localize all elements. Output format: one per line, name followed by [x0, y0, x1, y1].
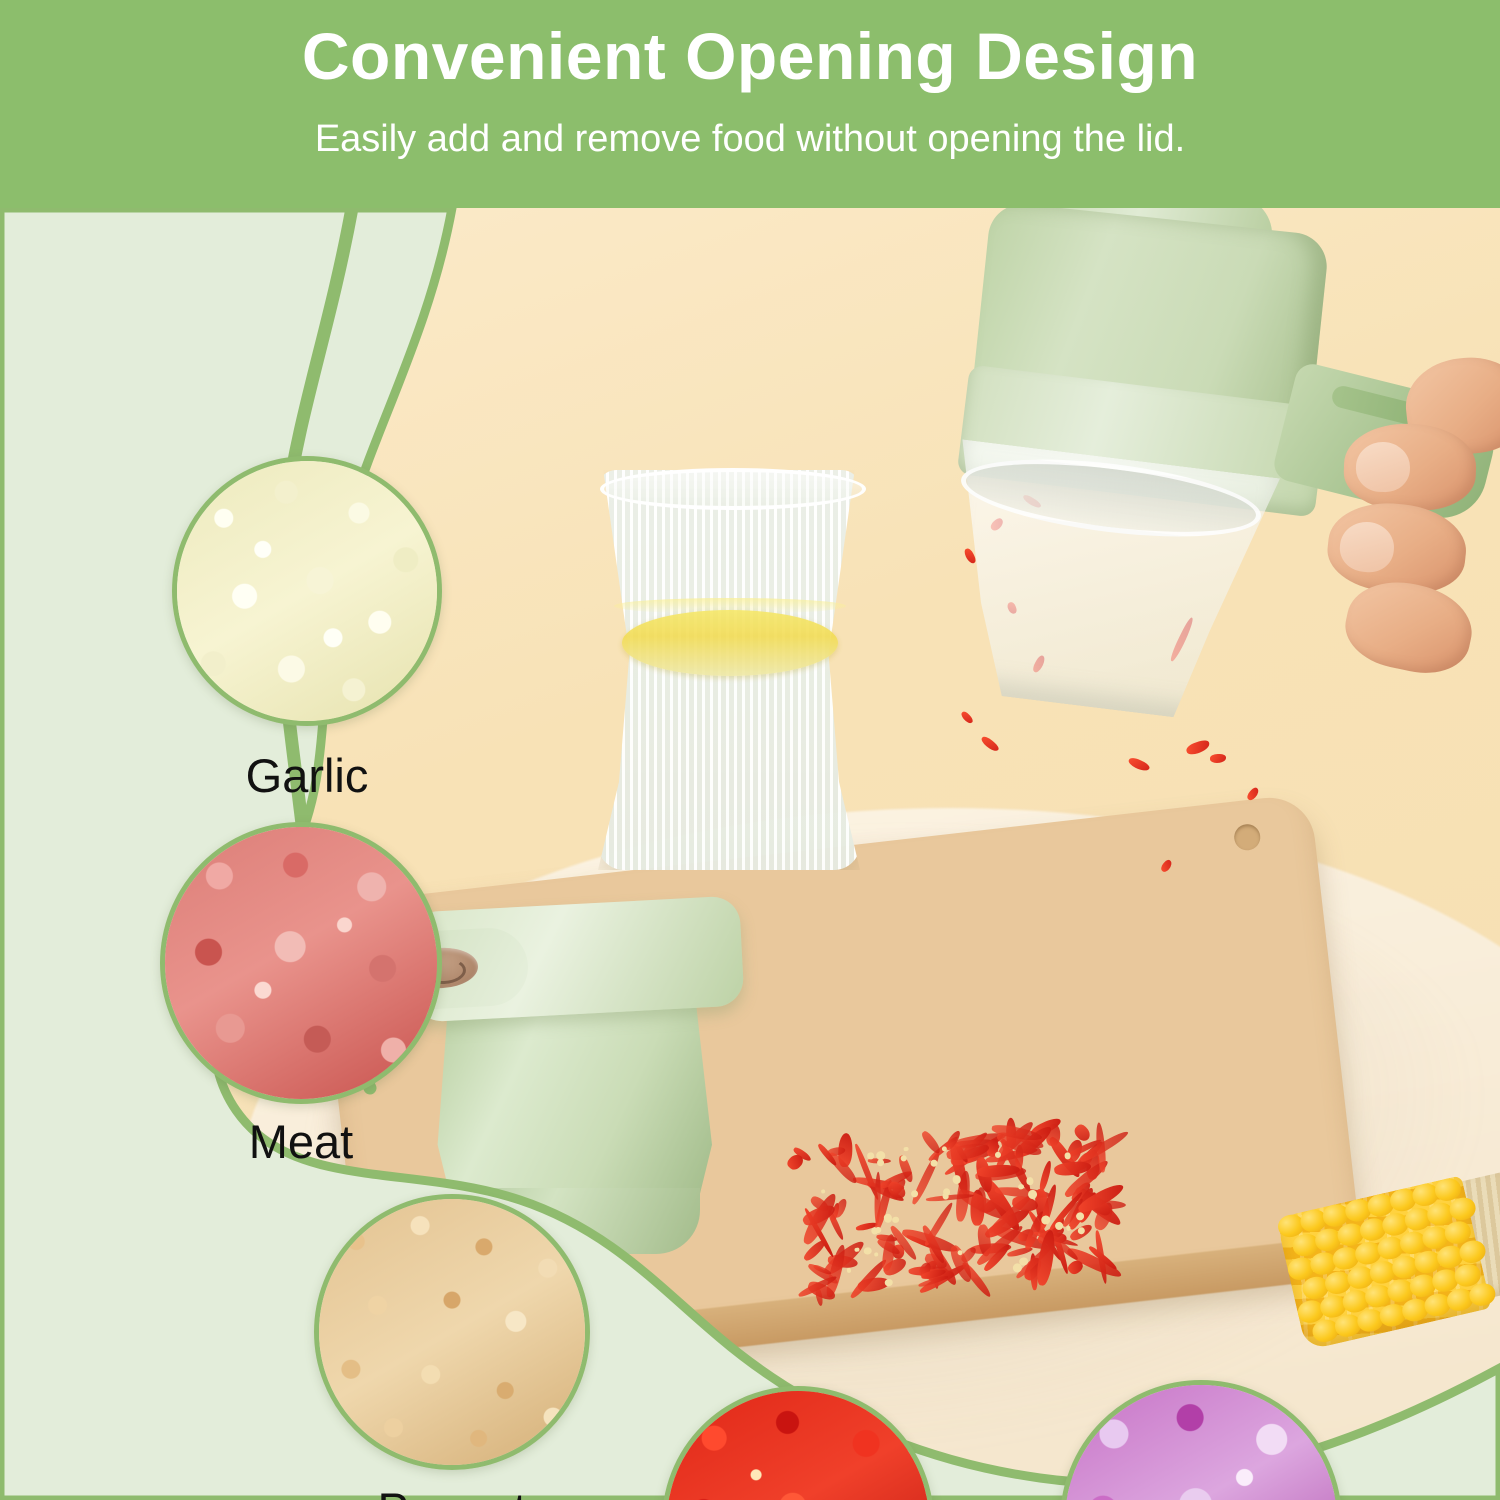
finger — [1338, 572, 1479, 682]
callout-meat: Meat — [160, 822, 442, 1174]
human-hand — [1310, 328, 1500, 728]
callout-onion: Onion — [1060, 1380, 1342, 1500]
callout-label-peanut: Peanut — [378, 1482, 527, 1500]
chili-shred — [1038, 1160, 1053, 1192]
chili-seed — [1066, 1226, 1071, 1231]
callout-image-garlic — [172, 456, 442, 726]
onion-texture — [1065, 1385, 1337, 1500]
chili-seed — [942, 1146, 948, 1152]
callout-label-meat: Meat — [249, 1114, 354, 1169]
drinking-glass — [598, 470, 860, 870]
callout-image-meat — [160, 822, 442, 1104]
fingernail — [1355, 441, 1411, 493]
chili-seed — [900, 1155, 907, 1162]
page-subtitle: Easily add and remove food without openi… — [0, 118, 1500, 161]
chili-texture — [667, 1391, 929, 1500]
glass-rim — [600, 468, 866, 510]
chili-seed — [892, 1216, 899, 1223]
callout-garlic: Garlic — [172, 456, 442, 796]
chili-seed — [1026, 1177, 1034, 1185]
chili-seed — [1018, 1184, 1024, 1190]
chili-seed — [995, 1151, 1002, 1158]
lemon-slice — [622, 610, 838, 676]
chili-seed — [904, 1146, 909, 1151]
chili-seed — [867, 1152, 874, 1159]
product-marketing-image: Convenient Opening Design Easily add and… — [0, 0, 1500, 1500]
chili-seed — [883, 1214, 892, 1223]
chili-seed — [885, 1278, 894, 1287]
meat-texture — [165, 827, 437, 1099]
callout-image-chili — [662, 1386, 934, 1500]
peanut-texture — [319, 1199, 585, 1465]
header-banner: Convenient Opening Design Easily add and… — [0, 0, 1500, 208]
callout-peanut: Peanut — [314, 1194, 590, 1500]
callout-image-onion — [1060, 1380, 1342, 1500]
chili-seed — [1041, 1215, 1051, 1225]
handheld-chopper-device — [930, 208, 1490, 728]
chili-seed — [821, 1190, 825, 1194]
chili-seed — [846, 1268, 851, 1273]
callout-label-garlic: Garlic — [246, 748, 369, 803]
corn-kernels — [1276, 1175, 1492, 1350]
callout-chili: Chili — [662, 1386, 934, 1500]
chili-seed — [874, 1252, 878, 1256]
product-photo-stage: GarlicMeatPeanutChiliOnion — [0, 208, 1500, 1500]
chili-seed — [863, 1247, 872, 1256]
chili-seed — [855, 1247, 860, 1252]
chili-seed — [1077, 1227, 1085, 1235]
chili-shred — [920, 1129, 944, 1155]
chili-seed — [930, 1159, 938, 1167]
callout-image-peanut — [314, 1194, 590, 1470]
garlic-texture — [177, 461, 437, 721]
page-title: Convenient Opening Design — [0, 22, 1500, 91]
